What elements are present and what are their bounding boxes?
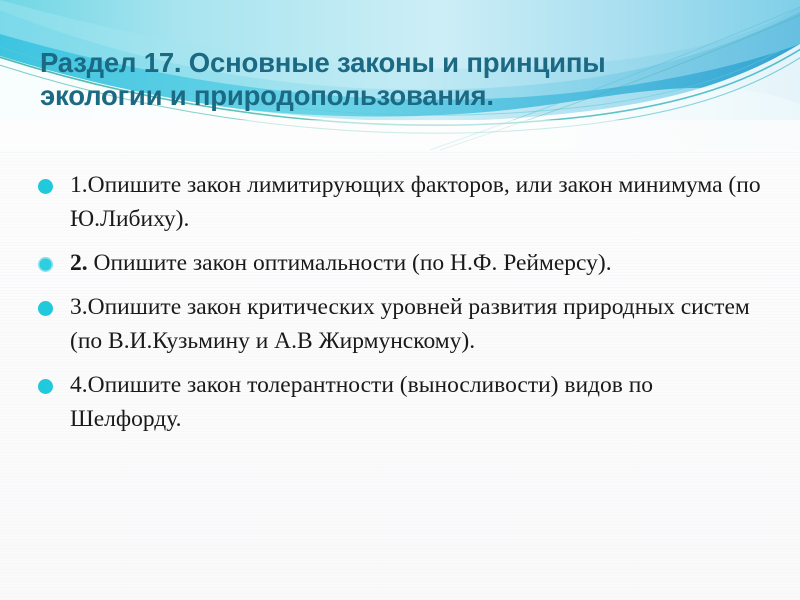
slide-bullet-list: 1.Опишите закон лимитирующих факторов, и… xyxy=(34,168,764,436)
list-item: 4.Опишите закон толерантности (выносливо… xyxy=(34,368,764,436)
list-item-text: 1.Опишите закон лимитирующих факторов, и… xyxy=(70,172,761,232)
list-item-lead: 2. xyxy=(70,250,88,276)
slide-title: Раздел 17. Основные законы и принципы эк… xyxy=(40,46,740,112)
list-item: 1.Опишите закон лимитирующих факторов, и… xyxy=(34,168,764,236)
list-item: 3.Опишите закон критических уровней разв… xyxy=(34,290,764,358)
list-item-text: Опишите закон оптимальности (по Н.Ф. Рей… xyxy=(88,250,612,276)
bullet-dot-icon xyxy=(38,301,53,316)
slide-title-line-2: экологии и природопользования. xyxy=(40,79,740,112)
bullet-dot-icon xyxy=(38,379,53,394)
list-item-text: 4.Опишите закон толерантности (выносливо… xyxy=(70,372,653,432)
slide-title-line-1: Раздел 17. Основные законы и принципы xyxy=(40,46,740,79)
bullet-dot-icon xyxy=(38,257,53,272)
presentation-slide: Раздел 17. Основные законы и принципы эк… xyxy=(0,0,800,600)
list-item: 2. Опишите закон оптимальности (по Н.Ф. … xyxy=(34,246,764,280)
list-item-text: 3.Опишите закон критических уровней разв… xyxy=(70,294,750,354)
bullet-dot-icon xyxy=(38,179,53,194)
